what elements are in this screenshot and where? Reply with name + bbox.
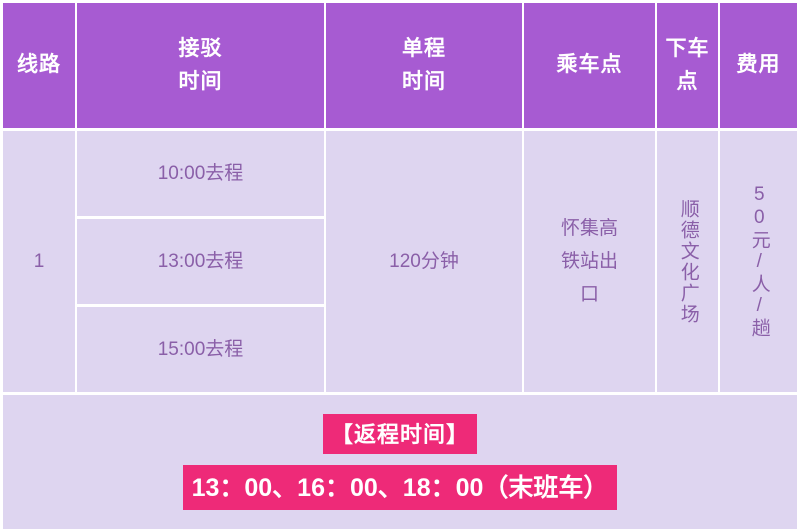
return-info-panel: 【返程时间】 13：00、16：00、18：00（末班车） — [3, 395, 797, 529]
column-header-pickup-point: 乘车点 — [522, 0, 655, 131]
return-time-values: 13：00、16：00、18：00（末班车） — [183, 465, 618, 510]
table-row: 1 10:00去程 13:00去程 15:00去程 120分钟 怀集高 铁站出 … — [0, 131, 800, 395]
return-time-title: 【返程时间】 — [323, 414, 477, 454]
column-header-dropoff-point: 下车 点 — [655, 0, 718, 131]
shuttle-time-item: 13:00去程 — [77, 219, 324, 307]
column-header-shuttle-time: 接驳 时间 — [75, 0, 324, 131]
table-footer: 【返程时间】 13：00、16：00、18：00（末班车） — [0, 395, 800, 532]
column-header-fare: 费用 — [718, 0, 800, 131]
cell-route: 1 — [0, 131, 75, 395]
cell-one-way-time: 120分钟 — [324, 131, 522, 395]
cell-shuttle-times: 10:00去程 13:00去程 15:00去程 — [75, 131, 324, 395]
column-header-route: 线路 — [0, 0, 75, 131]
shuttle-time-item: 15:00去程 — [77, 307, 324, 392]
cell-fare: 50元/人/趟 — [718, 131, 800, 395]
table-header-row: 线路 接驳 时间 单程 时间 乘车点 下车 点 费用 — [0, 0, 800, 131]
cell-dropoff-point: 顺德文化广场 — [655, 131, 718, 395]
cell-pickup-point: 怀集高 铁站出 口 — [522, 131, 655, 395]
shuttle-schedule-table: 线路 接驳 时间 单程 时间 乘车点 下车 点 费用 1 10:00去程 13:… — [0, 0, 800, 532]
shuttle-time-item: 10:00去程 — [77, 131, 324, 219]
column-header-one-way-time: 单程 时间 — [324, 0, 522, 131]
